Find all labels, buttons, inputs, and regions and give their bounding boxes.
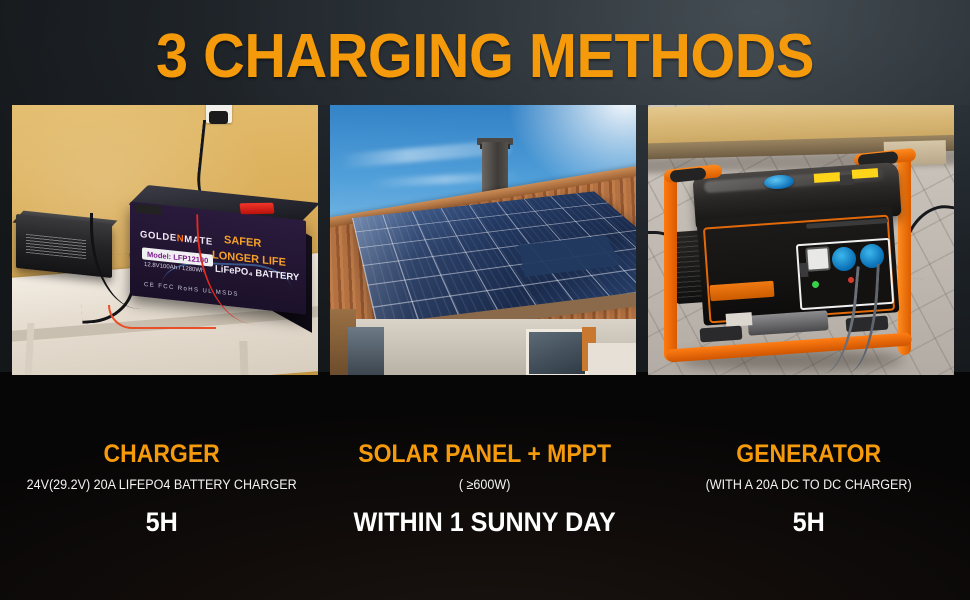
red-wire-lower (108, 305, 216, 329)
table-leg-right (239, 341, 248, 375)
method-time-charger: 5H (11, 507, 312, 537)
panel-switch (800, 263, 809, 278)
balcony-railing (588, 343, 636, 375)
house-window (526, 329, 588, 375)
page-title: 3 CHARGING METHODS (34, 26, 936, 88)
method-title-solar: SOLAR PANEL + MPPT (336, 440, 633, 468)
method-title-charger: CHARGER (13, 440, 310, 468)
method-time-generator: 5H (658, 507, 959, 537)
photo-strip: GOLDENMATE Model: LFP12100 12.8V100Ah / … (12, 105, 958, 375)
frame-bar-right (898, 155, 911, 355)
method-detail-solar: ( ≥600W) (335, 477, 636, 493)
method-title-generator: GENERATOR (660, 440, 957, 468)
method-detail-generator: (WITH A 20A DC TO DC CHARGER) (658, 477, 959, 493)
caption-column-charger: CHARGER 24V(29.2V) 20A LIFEPO4 BATTERY C… (0, 440, 323, 537)
photo-generator (648, 105, 954, 375)
warning-sticker-right (852, 168, 879, 179)
caption-column-solar: SOLAR PANEL + MPPT ( ≥600W) WITHIN 1 SUN… (323, 440, 646, 537)
house-doorway (348, 327, 384, 375)
poster-root: 3 CHARGING METHODS GOLDENMATE Model: LFP… (0, 0, 970, 600)
caption-row: CHARGER 24V(29.2V) 20A LIFEPO4 BATTERY C… (0, 440, 970, 537)
voltmeter-gauge (805, 246, 831, 272)
rubber-foot-left (700, 326, 743, 343)
photo-solar-panel (330, 105, 636, 375)
chimney (482, 142, 508, 192)
photo-charger: GOLDENMATE Model: LFP12100 12.8V100Ah / … (12, 105, 318, 375)
method-detail-charger: 24V(29.2V) 20A LIFEPO4 BATTERY CHARGER (11, 477, 312, 493)
caption-column-generator: GENERATOR (WITH A 20A DC TO DC CHARGER) … (647, 440, 970, 537)
warning-sticker-left (814, 172, 841, 183)
serial-label (726, 312, 753, 327)
frame-bar-left (664, 171, 677, 361)
method-time-solar: WITHIN 1 SUNNY DAY (335, 507, 636, 537)
